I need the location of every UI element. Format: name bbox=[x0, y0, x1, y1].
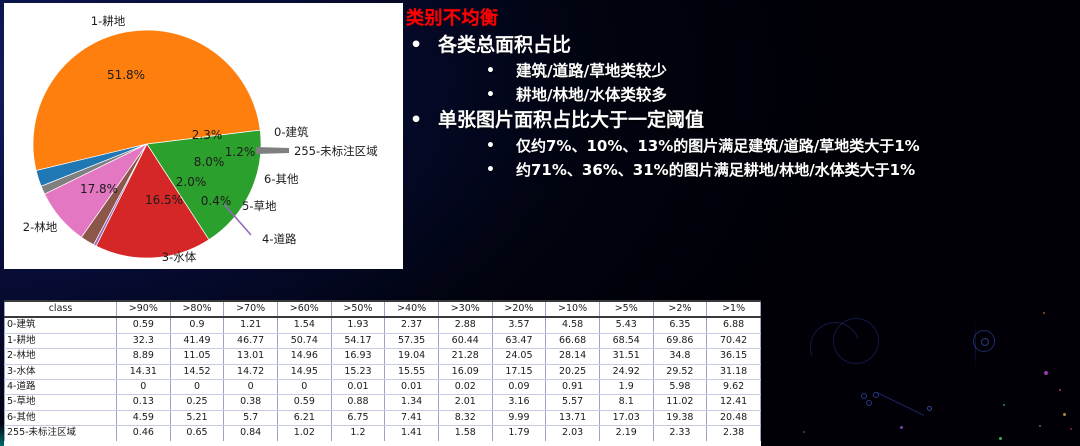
table-column-header: >2% bbox=[653, 301, 707, 317]
table-cell: 8.89 bbox=[117, 349, 171, 364]
table-cell: 2.38 bbox=[707, 426, 761, 441]
table-cell: 14.31 bbox=[117, 364, 171, 379]
table-column-header: >60% bbox=[277, 301, 331, 317]
pie-slice-percentage: 16.5% bbox=[145, 193, 183, 207]
decorative-dot bbox=[1003, 404, 1005, 406]
table-cell: 0 bbox=[117, 380, 171, 395]
decorative-line bbox=[975, 320, 976, 370]
table-cell: 5.57 bbox=[546, 395, 600, 410]
table-cell: 9.99 bbox=[492, 410, 546, 425]
bullet-item-2-2: • 约71%、36%、31%的图片满足耕地/林地/水体类大于1% bbox=[438, 158, 1078, 182]
table-row-label: 0-建筑 bbox=[5, 317, 117, 333]
pie-slice-group bbox=[33, 30, 261, 258]
table-cell: 2.37 bbox=[385, 317, 439, 333]
table-row: 5-草地0.130.250.380.590.881.342.013.165.57… bbox=[5, 395, 761, 410]
bullet-2-label: 单张图片面积占比大于一定阈值 bbox=[438, 109, 704, 131]
table-cell: 9.62 bbox=[707, 380, 761, 395]
decorative-dot bbox=[1044, 371, 1048, 375]
table-cell: 17.15 bbox=[492, 364, 546, 379]
table-cell: 8.1 bbox=[599, 395, 653, 410]
table-column-header: >1% bbox=[707, 301, 761, 317]
table-cell: 41.49 bbox=[170, 333, 224, 348]
table-cell: 2.03 bbox=[546, 426, 600, 441]
bullet-2-2-label: 约71%、36%、31%的图片满足耕地/林地/水体类大于1% bbox=[516, 161, 915, 179]
decorative-node-icon bbox=[866, 400, 872, 406]
table-column-header: >5% bbox=[599, 301, 653, 317]
table-row: 2-林地8.8911.0513.0114.9616.9319.0421.2824… bbox=[5, 349, 761, 364]
table-cell: 1.54 bbox=[277, 317, 331, 333]
pie-slice-percentage: 2.3% bbox=[192, 128, 223, 142]
bullet-glyph-icon: • bbox=[486, 158, 495, 182]
pie-slice-percentage: 8.0% bbox=[194, 155, 225, 169]
bullet-item-1-2: • 耕地/林地/水体类较多 bbox=[438, 83, 1078, 107]
table-cell: 0.09 bbox=[492, 380, 546, 395]
table-cell: 8.32 bbox=[438, 410, 492, 425]
decorative-node-icon bbox=[927, 406, 932, 411]
table-cell: 16.09 bbox=[438, 364, 492, 379]
table-cell: 70.42 bbox=[707, 333, 761, 348]
table-cell: 28.14 bbox=[546, 349, 600, 364]
table-cell: 14.52 bbox=[170, 364, 224, 379]
decorative-dot bbox=[900, 426, 903, 429]
table-cell: 21.28 bbox=[438, 349, 492, 364]
decorative-dot bbox=[1070, 428, 1072, 430]
decorative-dot bbox=[999, 437, 1002, 440]
decorative-target-icon bbox=[973, 330, 995, 352]
table-cell: 11.02 bbox=[653, 395, 707, 410]
table-row-label: 3-水体 bbox=[5, 364, 117, 379]
table-cell: 57.35 bbox=[385, 333, 439, 348]
table-cell: 24.05 bbox=[492, 349, 546, 364]
decorative-arc-icon bbox=[802, 314, 868, 380]
table-cell: 12.41 bbox=[707, 395, 761, 410]
bullet-glyph-icon: • bbox=[410, 107, 422, 134]
bullet-1-label: 各类总面积占比 bbox=[438, 34, 571, 56]
table-cell: 2.19 bbox=[599, 426, 653, 441]
pie-category-label: 4-道路 bbox=[262, 232, 297, 246]
table-column-header: >50% bbox=[331, 301, 385, 317]
pie-category-label: 6-其他 bbox=[264, 172, 299, 186]
decorative-ring-icon bbox=[833, 318, 879, 364]
table-cell: 15.23 bbox=[331, 364, 385, 379]
table-row: 0-建筑0.590.91.211.541.932.372.883.574.585… bbox=[5, 317, 761, 333]
table-cell: 31.51 bbox=[599, 349, 653, 364]
pie-chart-panel: 51.8%2.3%1.2%8.0%2.0%0.4%16.5%17.8% 1-耕地… bbox=[4, 3, 403, 269]
pie-chart: 51.8%2.3%1.2%8.0%2.0%0.4%16.5%17.8% 1-耕地… bbox=[4, 3, 403, 269]
table-cell: 0.59 bbox=[277, 395, 331, 410]
table-cell: 1.79 bbox=[492, 426, 546, 441]
table-row-label: 1-耕地 bbox=[5, 333, 117, 348]
table-body: 0-建筑0.590.91.211.541.932.372.883.574.585… bbox=[5, 317, 761, 440]
table-column-header: >70% bbox=[224, 301, 278, 317]
page-title: 类别不均衡 bbox=[406, 8, 1078, 30]
bullet-list-level2: • 仅约7%、10%、13%的图片满足建筑/道路/草地类大于1% • 约71%、… bbox=[438, 134, 1078, 182]
table-cell: 6.88 bbox=[707, 317, 761, 333]
table-cell: 5.43 bbox=[599, 317, 653, 333]
table-cell: 1.34 bbox=[385, 395, 439, 410]
table-row-label: 6-其他 bbox=[5, 410, 117, 425]
table-cell: 0.01 bbox=[331, 380, 385, 395]
pie-category-label: 5-草地 bbox=[242, 199, 277, 213]
table-cell: 0.46 bbox=[117, 426, 171, 441]
table-cell: 4.58 bbox=[546, 317, 600, 333]
table-cell: 13.01 bbox=[224, 349, 278, 364]
table-cell: 6.75 bbox=[331, 410, 385, 425]
table-column-header: >10% bbox=[546, 301, 600, 317]
table-cell: 0 bbox=[277, 380, 331, 395]
bullet-item-2-1: • 仅约7%、10%、13%的图片满足建筑/道路/草地类大于1% bbox=[438, 134, 1078, 158]
bullet-glyph-icon: • bbox=[486, 59, 495, 83]
pie-slice-percentage: 0.4% bbox=[201, 194, 232, 208]
table-cell: 0.59 bbox=[117, 317, 171, 333]
bullet-item-1-1: • 建筑/道路/草地类较少 bbox=[438, 59, 1078, 83]
bullet-glyph-icon: • bbox=[486, 83, 495, 107]
table-cell: 1.41 bbox=[385, 426, 439, 441]
table-cell: 24.92 bbox=[599, 364, 653, 379]
table-cell: 14.96 bbox=[277, 349, 331, 364]
table-row-label: 4-道路 bbox=[5, 380, 117, 395]
bullet-1-1-label: 建筑/道路/草地类较少 bbox=[516, 62, 667, 80]
table-cell: 11.05 bbox=[170, 349, 224, 364]
table-row: 4-道路00000.010.010.020.090.911.95.989.62 bbox=[5, 380, 761, 395]
table-cell: 5.98 bbox=[653, 380, 707, 395]
table-cell: 63.47 bbox=[492, 333, 546, 348]
table-cell: 0.65 bbox=[170, 426, 224, 441]
pie-slice-percentage: 2.0% bbox=[176, 175, 207, 189]
decorative-dot bbox=[1063, 413, 1066, 416]
table-cell: 69.86 bbox=[653, 333, 707, 348]
table-column-header: >80% bbox=[170, 301, 224, 317]
pie-category-label: 2-林地 bbox=[23, 220, 58, 234]
pie-category-label: 255-未标注区域 bbox=[294, 144, 378, 158]
decorative-connector-line bbox=[877, 392, 924, 416]
presentation-slide: 51.8%2.3%1.2%8.0%2.0%0.4%16.5%17.8% 1-耕地… bbox=[0, 0, 1080, 446]
table-cell: 2.33 bbox=[653, 426, 707, 441]
slide-text-content: 类别不均衡 • 各类总面积占比 • 建筑/道路/草地类较少 • 耕地/林地/水体… bbox=[406, 8, 1078, 182]
table-cell: 36.15 bbox=[707, 349, 761, 364]
table-row: 255-未标注区域0.460.650.841.021.21.411.581.79… bbox=[5, 426, 761, 441]
table-cell: 16.93 bbox=[331, 349, 385, 364]
table-cell: 20.25 bbox=[546, 364, 600, 379]
bullet-1-2-label: 耕地/林地/水体类较多 bbox=[516, 86, 667, 104]
table-cell: 1.9 bbox=[599, 380, 653, 395]
table-row: 1-耕地32.341.4946.7750.7454.1757.3560.4463… bbox=[5, 333, 761, 348]
table-cell: 0.38 bbox=[224, 395, 278, 410]
bullet-item-1: • 各类总面积占比 • 建筑/道路/草地类较少 • 耕地/林地/水体类较多 bbox=[406, 32, 1078, 107]
statistics-table-panel: class>90%>80%>70%>60%>50%>40%>30%>20%>10… bbox=[4, 300, 761, 446]
decorative-dot bbox=[1043, 312, 1045, 314]
decorative-dot bbox=[803, 431, 805, 433]
table-cell: 4.59 bbox=[117, 410, 171, 425]
table-row-label: 5-草地 bbox=[5, 395, 117, 410]
table-cell: 0.84 bbox=[224, 426, 278, 441]
statistics-table: class>90%>80%>70%>60%>50%>40%>30%>20%>10… bbox=[4, 300, 761, 441]
table-cell: 15.55 bbox=[385, 364, 439, 379]
pie-category-label: 0-建筑 bbox=[274, 125, 309, 139]
table-header-row: class>90%>80%>70%>60%>50%>40%>30%>20%>10… bbox=[5, 301, 761, 317]
bullet-list-level1: • 各类总面积占比 • 建筑/道路/草地类较少 • 耕地/林地/水体类较多 • … bbox=[406, 32, 1078, 182]
table-cell: 68.54 bbox=[599, 333, 653, 348]
table-header: class>90%>80%>70%>60%>50%>40%>30%>20%>10… bbox=[5, 301, 761, 317]
decorative-node-icon bbox=[861, 393, 867, 399]
table-cell: 0 bbox=[224, 380, 278, 395]
pie-slice-percentage: 51.8% bbox=[107, 68, 145, 82]
decorative-node-icon bbox=[873, 392, 879, 398]
pie-category-label: 3-水体 bbox=[162, 250, 197, 264]
table-cell: 14.95 bbox=[277, 364, 331, 379]
table-cell: 50.74 bbox=[277, 333, 331, 348]
table-cell: 46.77 bbox=[224, 333, 278, 348]
table-cell: 0.02 bbox=[438, 380, 492, 395]
table-column-header: >90% bbox=[117, 301, 171, 317]
table-cell: 32.3 bbox=[117, 333, 171, 348]
table-column-header: >30% bbox=[438, 301, 492, 317]
table-cell: 1.93 bbox=[331, 317, 385, 333]
pie-category-label: 1-耕地 bbox=[91, 14, 126, 28]
pie-slice-percentage: 17.8% bbox=[80, 182, 118, 196]
table-cell: 31.18 bbox=[707, 364, 761, 379]
table-cell: 17.03 bbox=[599, 410, 653, 425]
table-cell: 1.58 bbox=[438, 426, 492, 441]
decorative-dot bbox=[1059, 389, 1061, 391]
table-row: 6-其他4.595.215.76.216.757.418.329.9913.71… bbox=[5, 410, 761, 425]
table-cell: 14.72 bbox=[224, 364, 278, 379]
table-cell: 0.9 bbox=[170, 317, 224, 333]
table-cell: 13.71 bbox=[546, 410, 600, 425]
table-cell: 19.38 bbox=[653, 410, 707, 425]
table-cell: 2.88 bbox=[438, 317, 492, 333]
table-cell: 19.04 bbox=[385, 349, 439, 364]
table-row-label: 255-未标注区域 bbox=[5, 426, 117, 441]
table-row: 3-水体14.3114.5214.7214.9515.2315.5516.091… bbox=[5, 364, 761, 379]
table-cell: 3.57 bbox=[492, 317, 546, 333]
table-cell: 54.17 bbox=[331, 333, 385, 348]
bullet-glyph-icon: • bbox=[410, 32, 422, 59]
decorative-dot bbox=[1039, 425, 1041, 427]
table-cell: 7.41 bbox=[385, 410, 439, 425]
table-cell: 20.48 bbox=[707, 410, 761, 425]
table-column-header: >40% bbox=[385, 301, 439, 317]
table-cell: 29.52 bbox=[653, 364, 707, 379]
table-cell: 5.21 bbox=[170, 410, 224, 425]
table-cell: 1.02 bbox=[277, 426, 331, 441]
table-cell: 6.35 bbox=[653, 317, 707, 333]
table-cell: 2.01 bbox=[438, 395, 492, 410]
bullet-item-2: • 单张图片面积占比大于一定阈值 • 仅约7%、10%、13%的图片满足建筑/道… bbox=[406, 107, 1078, 182]
table-cell: 0.13 bbox=[117, 395, 171, 410]
table-cell: 1.2 bbox=[331, 426, 385, 441]
table-cell: 0.25 bbox=[170, 395, 224, 410]
table-row-label: 2-林地 bbox=[5, 349, 117, 364]
table-cell: 0 bbox=[170, 380, 224, 395]
table-cell: 60.44 bbox=[438, 333, 492, 348]
table-cell: 0.01 bbox=[385, 380, 439, 395]
table-cell: 66.68 bbox=[546, 333, 600, 348]
table-cell: 0.88 bbox=[331, 395, 385, 410]
bullet-list-level2: • 建筑/道路/草地类较少 • 耕地/林地/水体类较多 bbox=[438, 59, 1078, 107]
table-cell: 1.21 bbox=[224, 317, 278, 333]
table-cell: 0.91 bbox=[546, 380, 600, 395]
table-cell: 6.21 bbox=[277, 410, 331, 425]
table-cell: 5.7 bbox=[224, 410, 278, 425]
table-cell: 34.8 bbox=[653, 349, 707, 364]
pie-leader-band-unlabeled bbox=[256, 147, 289, 154]
table-cell: 3.16 bbox=[492, 395, 546, 410]
table-column-header: >20% bbox=[492, 301, 546, 317]
bullet-glyph-icon: • bbox=[486, 134, 495, 158]
bullet-2-1-label: 仅约7%、10%、13%的图片满足建筑/道路/草地类大于1% bbox=[516, 137, 920, 155]
table-column-header: class bbox=[5, 301, 117, 317]
pie-slice-percentage: 1.2% bbox=[225, 145, 256, 159]
